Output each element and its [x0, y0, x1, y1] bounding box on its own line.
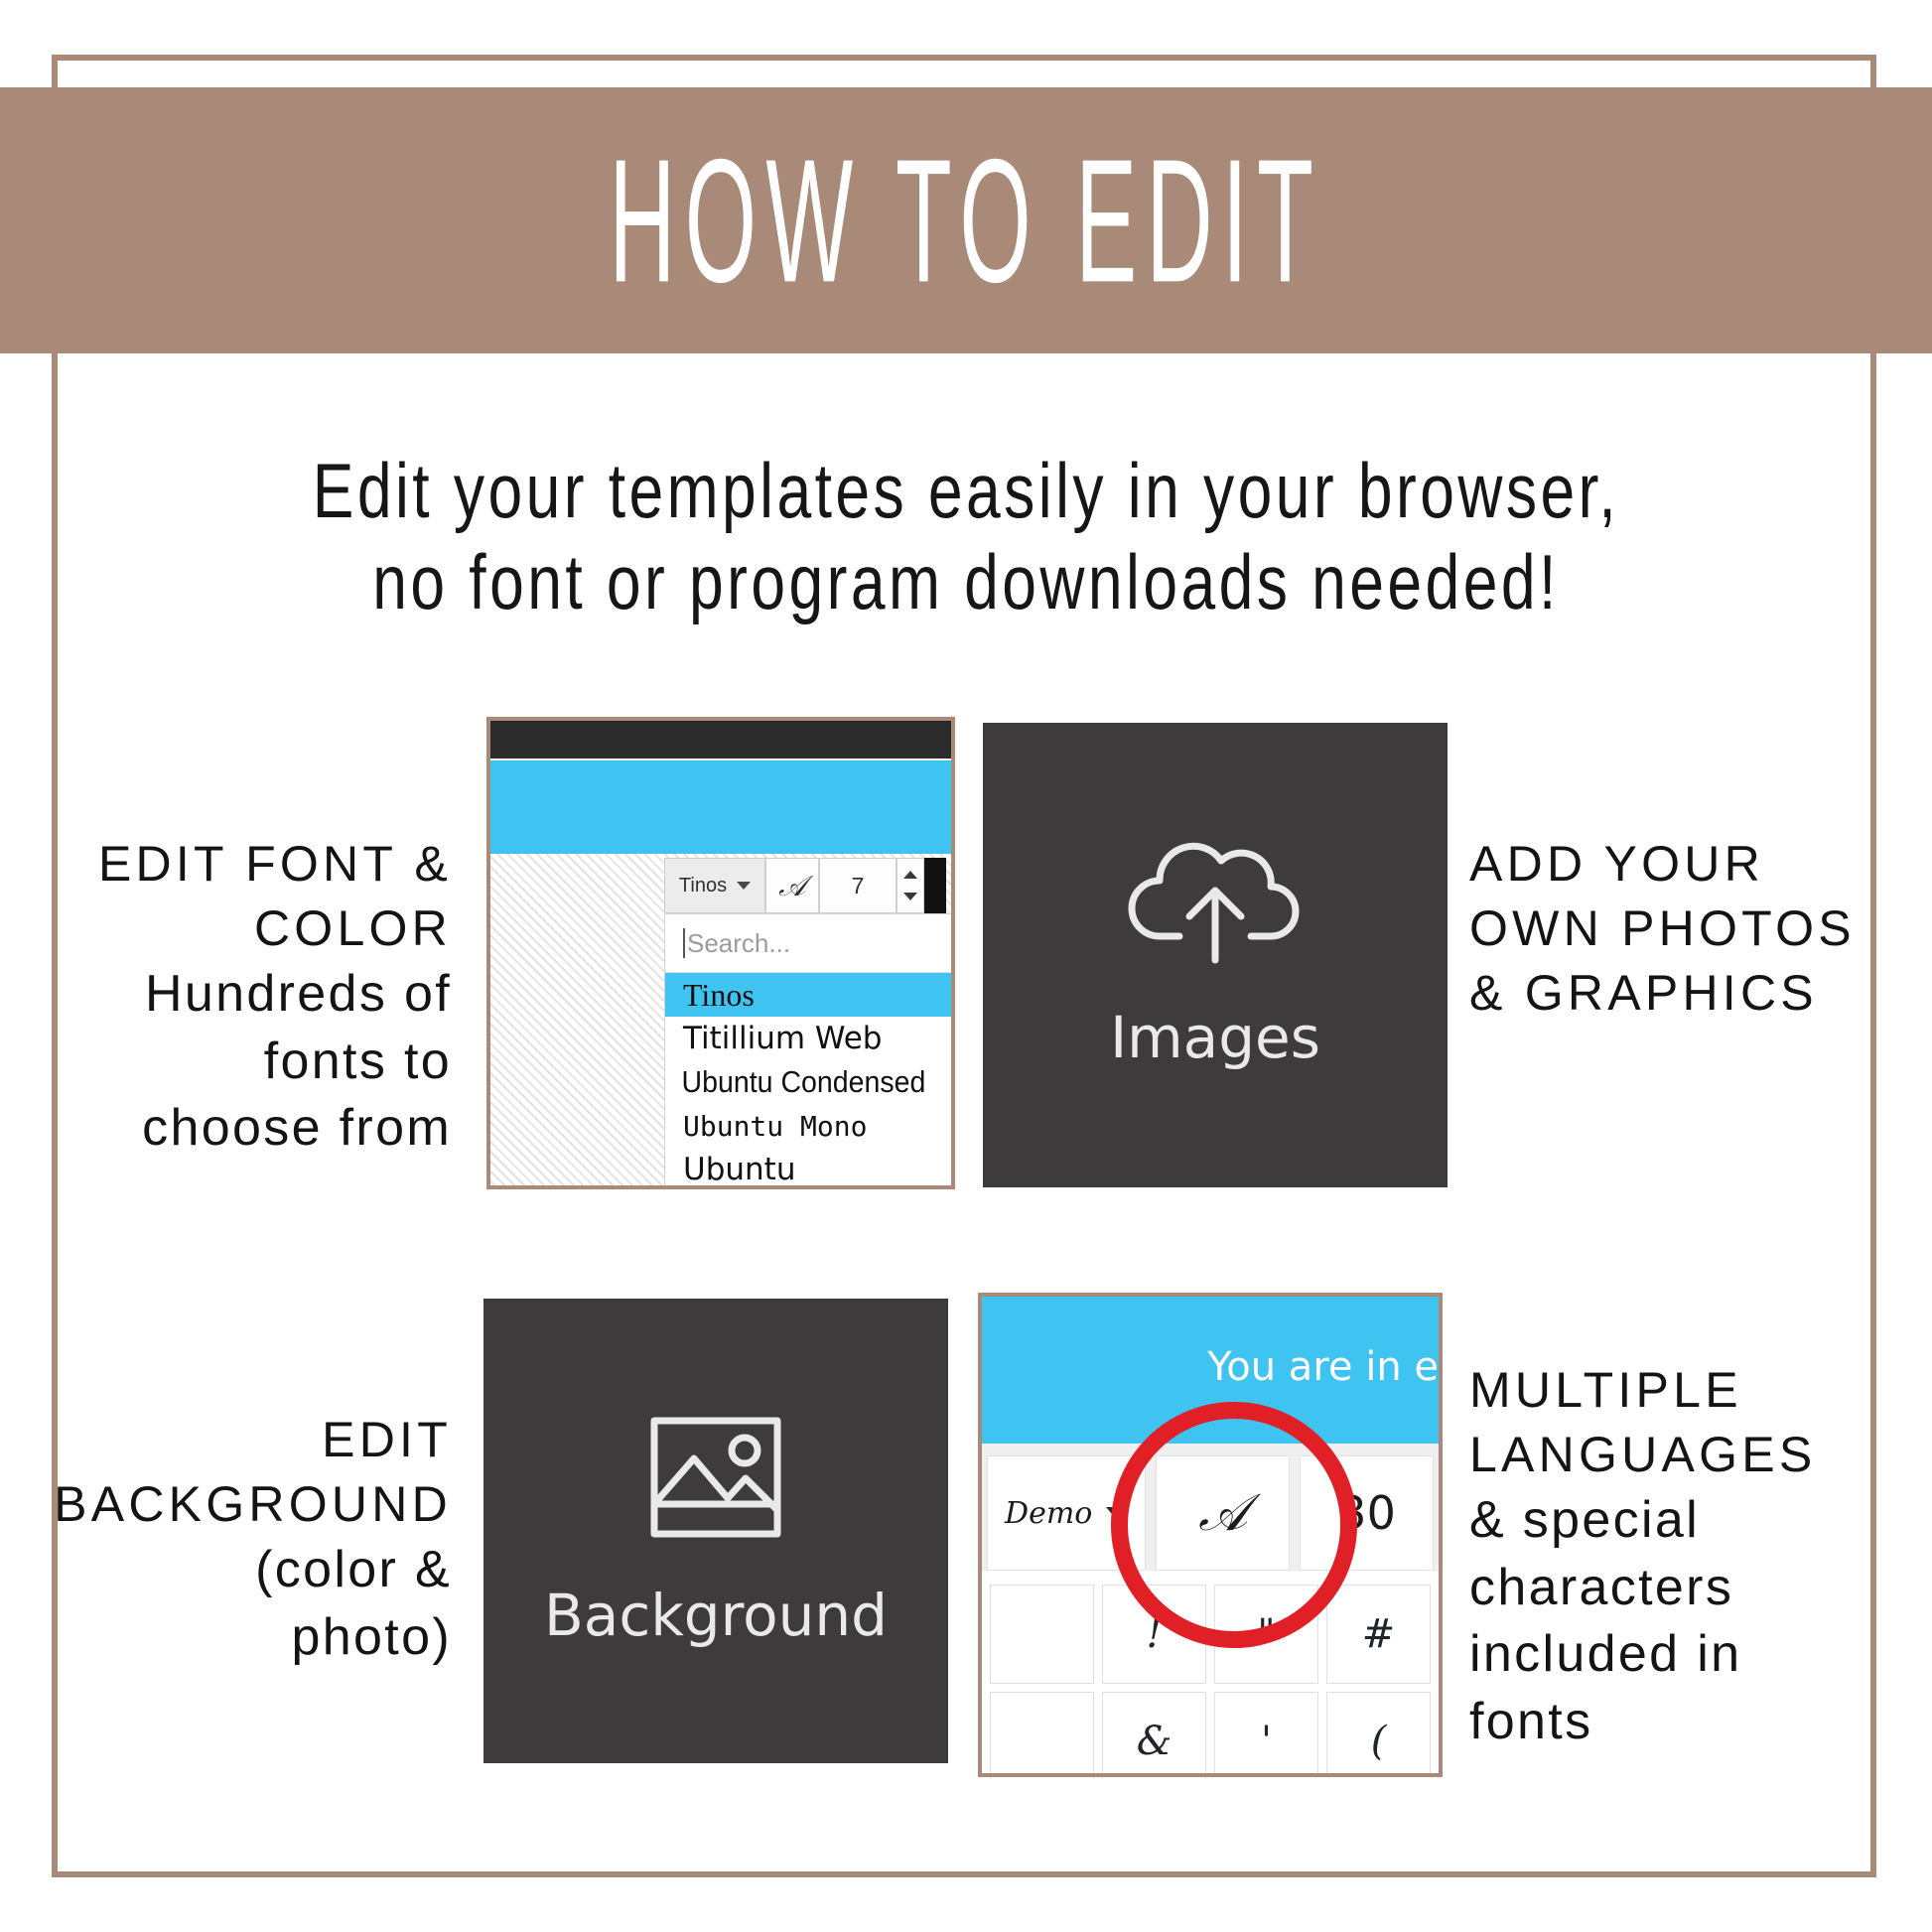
caption-heading-line: COLOR — [40, 897, 452, 961]
caption-body-line: Hundreds of — [40, 961, 452, 1029]
font-search-input[interactable]: Search... — [665, 914, 955, 973]
caption-edit-font-color: EDIT FONT & COLOR Hundreds of fonts to c… — [40, 832, 452, 1163]
subtitle-line-1: Edit your templates easily in your brows… — [194, 445, 1739, 536]
font-search-placeholder: Search... — [687, 928, 790, 959]
cloud-upload-icon — [1126, 839, 1305, 970]
caption-heading-line: EDIT — [40, 1408, 452, 1472]
char-cell[interactable]: ' — [1214, 1692, 1318, 1777]
font-list-item-ubuntu-condensed[interactable]: Ubuntu Condensed — [665, 1060, 934, 1104]
background-label: Background — [544, 1582, 888, 1649]
font-name-label: Demo — [1005, 1496, 1092, 1531]
font-list-item-titillium-web[interactable]: Titillium Web — [665, 1017, 955, 1060]
subtitle-line-2: no font or program downloads needed! — [194, 536, 1739, 627]
editor-titlebar — [490, 721, 951, 759]
font-list-dropdown[interactable]: Search... Tinos Titillium Web Ubuntu Con… — [664, 913, 955, 1189]
caption-body-line: choose from — [40, 1095, 452, 1163]
character-map-screenshot: You are in e Demo 𝒜 30 ! " # & ' ( — [978, 1293, 1443, 1777]
text-cursor — [683, 928, 685, 958]
caption-heading-line: EDIT FONT & — [40, 832, 452, 897]
spinner-up-icon[interactable] — [903, 871, 917, 879]
editor-cyan-banner: You are in e — [982, 1297, 1439, 1444]
font-toolbar: Tinos 𝒜 7 — [664, 858, 955, 913]
char-cell[interactable]: # — [1326, 1585, 1431, 1684]
caption-heading-line: LANGUAGES — [1469, 1423, 1896, 1487]
subtitle-block: Edit your templates easily in your brows… — [194, 445, 1739, 627]
header-banner: HOW TO EDIT — [0, 87, 1932, 353]
character-toolbar: Demo 𝒜 30 — [982, 1444, 1439, 1571]
caption-body-line: fonts — [1469, 1689, 1896, 1756]
font-size-stepper[interactable] — [897, 858, 924, 913]
canvas-text-preview: You are in e — [1207, 1344, 1439, 1390]
font-list-item-tinos[interactable]: Tinos — [665, 973, 955, 1017]
page-title: HOW TO EDIT — [610, 133, 1323, 309]
background-tool-screenshot: Background — [483, 1299, 948, 1763]
spinner-down-icon[interactable] — [903, 893, 917, 900]
caption-body-line: characters — [1469, 1555, 1896, 1622]
char-cell[interactable] — [990, 1692, 1094, 1777]
font-name-dropdown-button[interactable]: Demo — [987, 1455, 1146, 1571]
font-size-input[interactable]: 7 — [819, 858, 897, 913]
images-tool-screenshot: Images — [983, 723, 1448, 1187]
font-size-value: 7 — [852, 873, 865, 899]
font-picker-screenshot: Tinos 𝒜 7 Search... Tinos Titillium Web … — [486, 717, 955, 1189]
font-name-label: Tinos — [679, 875, 727, 897]
chevron-down-icon — [1106, 1507, 1128, 1520]
caption-heading-line: MULTIPLE — [1469, 1358, 1896, 1423]
caption-body-line: (color & — [40, 1537, 452, 1604]
char-cell[interactable] — [990, 1585, 1094, 1684]
caption-add-photos: ADD YOUR OWN PHOTOS & GRAPHICS — [1469, 832, 1886, 1026]
script-a-icon[interactable]: 𝒜 — [765, 858, 819, 913]
editor-cyan-banner — [490, 760, 951, 854]
caption-heading-line: OWN PHOTOS — [1469, 897, 1886, 961]
caption-multiple-languages: MULTIPLE LANGUAGES & special characters … — [1469, 1358, 1896, 1755]
char-cell[interactable]: ( — [1326, 1692, 1431, 1777]
font-name-dropdown-button[interactable]: Tinos — [664, 858, 765, 913]
font-list-item-ubuntu[interactable]: Ubuntu — [665, 1148, 955, 1189]
font-size-input[interactable]: 30 — [1300, 1455, 1434, 1571]
images-label: Images — [1110, 1004, 1320, 1071]
caption-body-line: & special — [1469, 1487, 1896, 1555]
chevron-down-icon — [737, 882, 751, 890]
char-cell[interactable]: ! — [1102, 1585, 1206, 1684]
caption-body-line: photo) — [40, 1604, 452, 1672]
font-size-value: 30 — [1337, 1486, 1396, 1540]
script-a-icon[interactable]: 𝒜 — [1156, 1455, 1290, 1571]
caption-heading-line: ADD YOUR — [1469, 832, 1886, 897]
caption-edit-background: EDIT BACKGROUND (color & photo) — [40, 1408, 452, 1671]
caption-body-line: fonts to — [40, 1029, 452, 1096]
caption-heading-line: & GRAPHICS — [1469, 961, 1886, 1026]
char-cell[interactable]: & — [1102, 1692, 1206, 1777]
color-swatch-button[interactable] — [924, 858, 946, 913]
caption-heading-line: BACKGROUND — [40, 1472, 452, 1537]
special-characters-grid: ! " # & ' ( — [982, 1577, 1439, 1773]
caption-body-line: included in — [1469, 1621, 1896, 1689]
char-cell[interactable]: " — [1214, 1585, 1318, 1684]
picture-icon — [646, 1413, 785, 1542]
font-list-item-ubuntu-mono[interactable]: Ubuntu Mono — [665, 1104, 955, 1148]
